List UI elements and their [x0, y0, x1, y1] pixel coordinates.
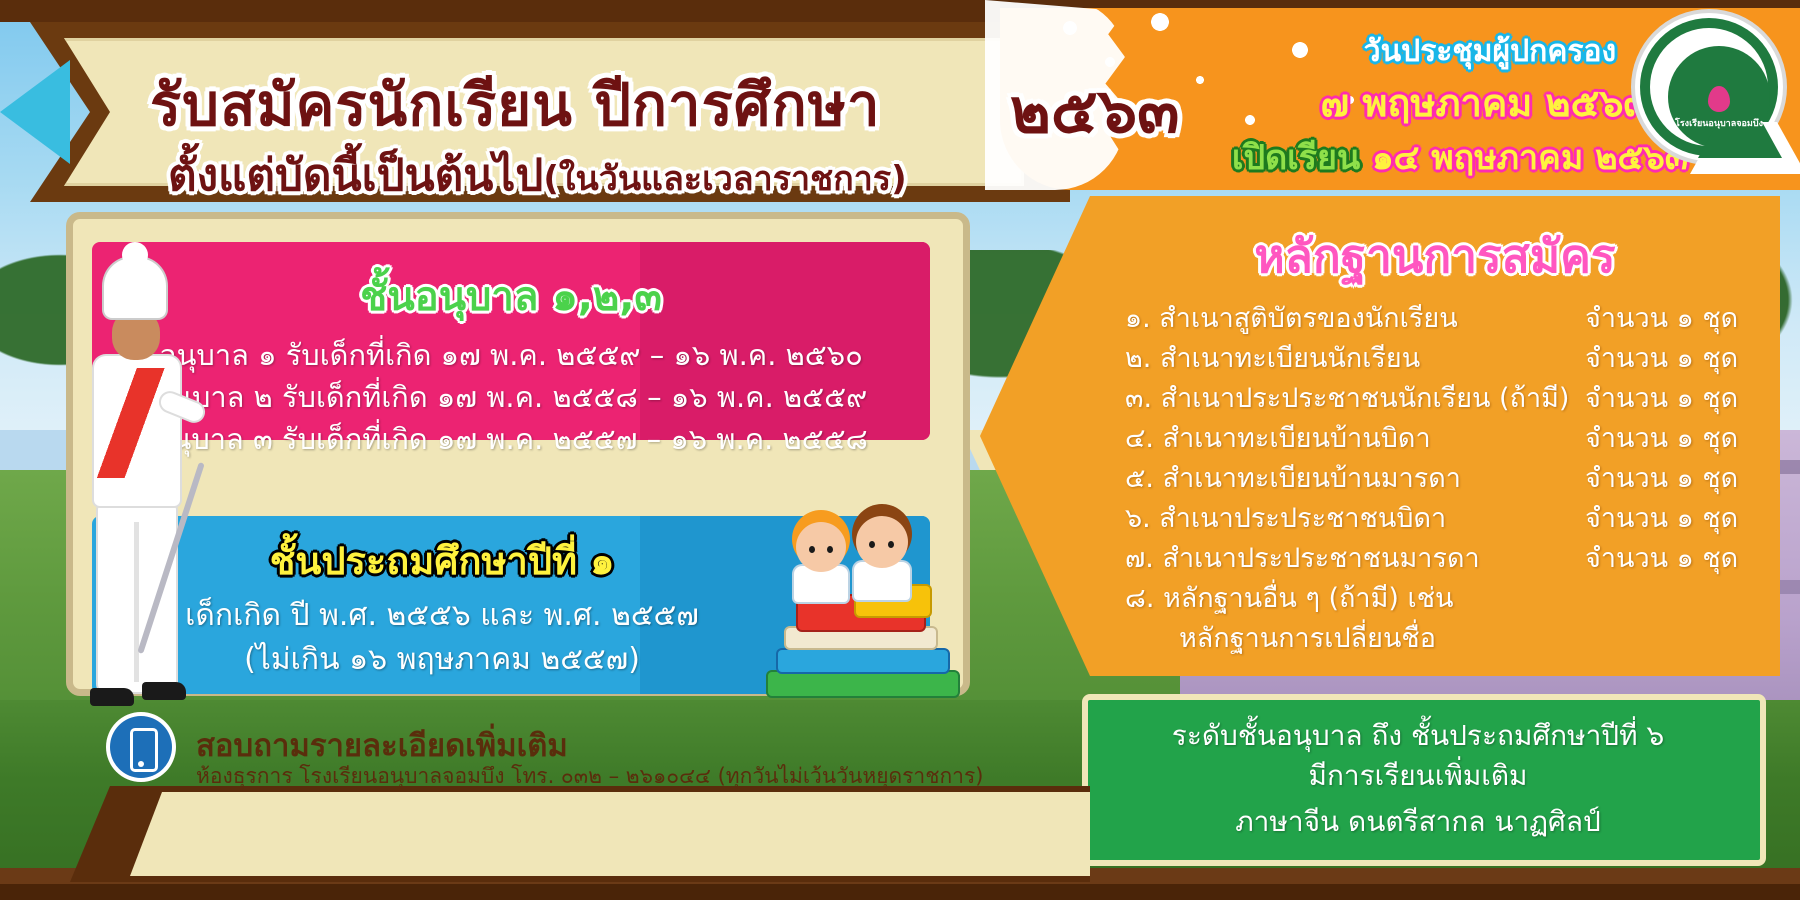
book-blue-icon: [778, 650, 948, 672]
document-item: ๖. สำเนาประประชาชนบิดา จำนวน ๑ ชุด: [1125, 496, 1775, 536]
student-legs: [98, 502, 176, 692]
bottom-edge-strip: [0, 884, 1800, 900]
boy-eye-left-icon: [869, 541, 875, 548]
phone-glyph-icon: [130, 728, 158, 772]
book-cream-icon: [786, 628, 936, 648]
boy-eye-right-icon: [888, 541, 894, 548]
page-title-line2-paren: (ในวันและเวลาราชการ): [543, 159, 906, 199]
book-green-icon: [768, 672, 958, 696]
document-item-text: ๒. สำเนาทะเบียนนักเรียน: [1125, 336, 1585, 379]
footer-bar-inner: [130, 792, 1090, 876]
student-hat-plume: [122, 242, 148, 268]
girl-head-icon: [796, 522, 846, 572]
student-shoe-left: [90, 688, 134, 706]
school-logo-name: โรงเรียนอนุบาลจอมบึง: [1668, 120, 1770, 130]
footer-detail: ห้องธุรการ โรงเรียนอนุบาลจอมบึง โทร. ๐๓๒…: [196, 760, 983, 793]
page-title-line2-main: ตั้งแต่บัดนี้เป็นต้นไป: [168, 150, 543, 201]
marching-band-student-photo: [60, 258, 240, 728]
page-title-line1: รับสมัครนักเรียน ปีการศึกษา: [150, 58, 1030, 151]
school-logo: โรงเรียนอนุบาลจอมบึง: [1640, 18, 1778, 156]
document-item: ๑. สำเนาสูติบัตรของนักเรียน จำนวน ๑ ชุด: [1125, 296, 1775, 336]
document-item-qty: จำนวน ๑ ชุด: [1585, 296, 1775, 339]
student-shoe-right: [142, 682, 186, 700]
open-school-label: เปิดเรียน: [1232, 138, 1360, 178]
document-item-text: ๕. สำเนาทะเบียนบ้านมารดา: [1125, 456, 1585, 499]
documents-list: ๑. สำเนาสูติบัตรของนักเรียน จำนวน ๑ ชุด …: [1125, 296, 1775, 656]
documents-panel: หลักฐานการสมัคร ๑. สำเนาสูติบัตรของนักเร…: [980, 196, 1780, 676]
document-item: ๘. หลักฐานอื่น ๆ (ถ้ามี) เช่น: [1125, 576, 1775, 616]
document-item-qty: จำนวน ๑ ชุด: [1585, 456, 1775, 499]
documents-title: หลักฐานการสมัคร: [1090, 220, 1780, 293]
document-item-text: ๔. สำเนาทะเบียนบ้านบิดา: [1125, 416, 1585, 459]
kids-on-books-illustration: [760, 500, 970, 710]
document-item-text: ๗. สำเนาประประชาชนมารดา: [1125, 536, 1585, 579]
open-school-line: เปิดเรียน ๑๔ พฤษภาคม ๒๕๖๓: [1190, 130, 1730, 184]
school-logo-core: โรงเรียนอนุบาลจอมบึง: [1668, 46, 1770, 148]
document-item-qty: จำนวน ๑ ชุด: [1585, 416, 1775, 459]
phone-icon: [110, 716, 172, 778]
student-sash: [94, 368, 180, 478]
document-item: ๓. สำเนาประประชาชนนักเรียน (ถ้ามี) จำนวน…: [1125, 376, 1775, 416]
document-item-qty: จำนวน ๑ ชุด: [1585, 536, 1775, 579]
document-item-qty: จำนวน ๑ ชุด: [1585, 336, 1775, 379]
document-item-text: ๑. สำเนาสูติบัตรของนักเรียน: [1125, 296, 1585, 339]
footer-bar: [70, 786, 1090, 882]
page-title-line2: ตั้งแต่บัดนี้เป็นต้นไป(ในวันและเวลาราชกา…: [168, 140, 1048, 210]
boy-head-icon: [856, 516, 908, 568]
document-item-text: ๓. สำเนาประประชาชนนักเรียน (ถ้ามี): [1125, 376, 1585, 419]
document-item: ๕. สำเนาทะเบียนบ้านมารดา จำนวน ๑ ชุด: [1125, 456, 1775, 496]
document-item-qty: จำนวน ๑ ชุด: [1585, 376, 1775, 419]
open-school-date: ๑๔ พฤษภาคม ๒๕๖๓: [1372, 138, 1688, 178]
logo-lotus-icon: [1708, 86, 1730, 112]
document-item: ๒. สำเนาทะเบียนนักเรียน จำนวน ๑ ชุด: [1125, 336, 1775, 376]
girl-eye-left-icon: [809, 546, 815, 553]
school-logo-ring: โรงเรียนอนุบาลจอมบึง: [1650, 28, 1768, 146]
extra-line-1: ระดับชั้นอนุบาล ถึง ชั้นประถมศึกษาปีที่ …: [1088, 714, 1748, 758]
document-item-qty: จำนวน ๑ ชุด: [1585, 496, 1775, 539]
extra-line-2: มีการเรียนเพิ่มเติม: [1088, 754, 1748, 798]
meeting-label: วันประชุมผู้ปกครอง: [1280, 28, 1700, 75]
document-subitem: หลักฐานการเปลี่ยนชื่อ: [1125, 616, 1775, 656]
poster-root: รับสมัครนักเรียน ปีการศึกษา ๒๕๖๓ ตั้งแต่…: [0, 0, 1800, 900]
girl-eye-right-icon: [827, 546, 833, 553]
document-item-text: ๘. หลักฐานอื่น ๆ (ถ้ามี) เช่น: [1125, 576, 1585, 619]
document-item: ๗. สำเนาประประชาชนมารดา จำนวน ๑ ชุด: [1125, 536, 1775, 576]
document-item-text: ๖. สำเนาประประชาชนบิดา: [1125, 496, 1585, 539]
extra-line-3: ภาษาจีน ดนตรีสากล นาฏศิลป์: [1088, 800, 1748, 844]
document-item: ๔. สำเนาทะเบียนบ้านบิดา จำนวน ๑ ชุด: [1125, 416, 1775, 456]
extra-activities-panel: ระดับชั้นอนุบาล ถึง ชั้นประถมศึกษาปีที่ …: [1082, 694, 1766, 866]
